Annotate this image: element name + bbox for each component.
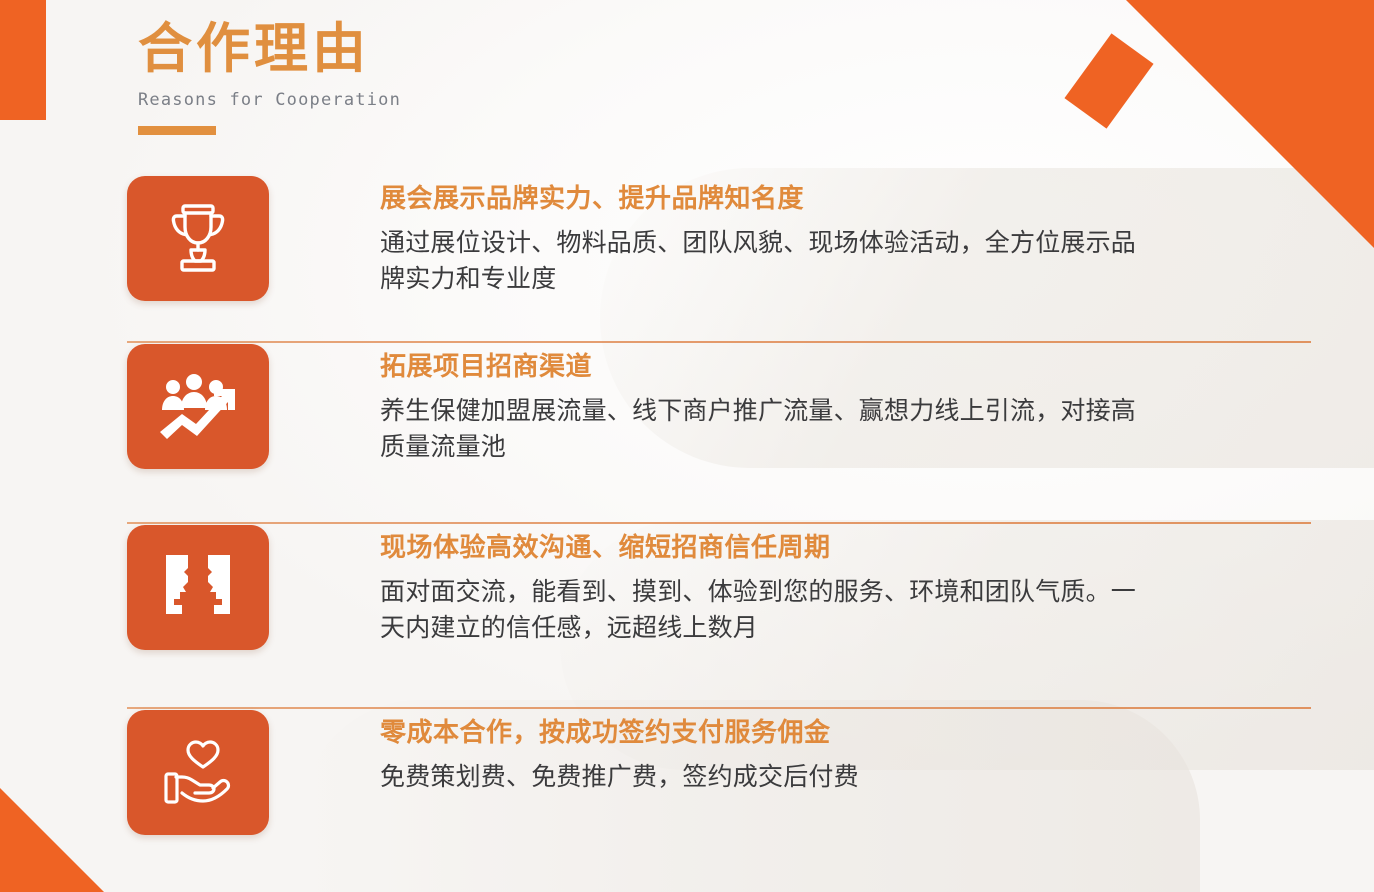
- list-item: 零成本合作，按成功签约支付服务佣金 免费策划费、免费推广费，签约成交后付费: [0, 710, 1374, 870]
- list-item-text: 现场体验高效沟通、缩短招商信任周期 面对面交流，能看到、摸到、体验到您的服务、环…: [380, 525, 1140, 646]
- hand-heart-icon: [158, 737, 238, 809]
- list-item-text: 展会展示品牌实力、提升品牌知名度 通过展位设计、物料品质、团队风貌、现场体验活动…: [380, 176, 1140, 297]
- page-title: 合作理由: [138, 18, 401, 80]
- list-item-description: 养生保健加盟展流量、线下商户推广流量、赢想力线上引流，对接高质量流量池: [380, 393, 1140, 466]
- list-item-text: 零成本合作，按成功签约支付服务佣金 免费策划费、免费推广费，签约成交后付费: [380, 710, 859, 795]
- two-faces-icon: [160, 551, 236, 625]
- list-item-text: 拓展项目招商渠道 养生保健加盟展流量、线下商户推广流量、赢想力线上引流，对接高质…: [380, 344, 1140, 465]
- hand-heart-icon-tile: [127, 710, 269, 835]
- list-item-title: 展会展示品牌实力、提升品牌知名度: [380, 182, 1140, 215]
- title-underline-bar: [138, 126, 216, 135]
- list-item-title: 零成本合作，按成功签约支付服务佣金: [380, 716, 859, 749]
- list-item: 拓展项目招商渠道 养生保健加盟展流量、线下商户推广流量、赢想力线上引流，对接高质…: [0, 344, 1374, 525]
- list-item: 展会展示品牌实力、提升品牌知名度 通过展位设计、物料品质、团队风貌、现场体验活动…: [0, 176, 1374, 344]
- row-divider: [127, 707, 1311, 709]
- row-divider: [127, 522, 1311, 524]
- top-left-orange-bar-decoration: [0, 0, 46, 120]
- list-item-title: 拓展项目招商渠道: [380, 350, 1140, 383]
- list-item-title: 现场体验高效沟通、缩短招商信任周期: [380, 531, 1140, 564]
- slide-root: 合作理由 Reasons for Cooperation: [0, 0, 1374, 892]
- list-item: 现场体验高效沟通、缩短招商信任周期 面对面交流，能看到、摸到、体验到您的服务、环…: [0, 525, 1374, 710]
- list-item-description: 通过展位设计、物料品质、团队风貌、现场体验活动，全方位展示品牌实力和专业度: [380, 225, 1140, 298]
- list-item-description: 面对面交流，能看到、摸到、体验到您的服务、环境和团队气质。一天内建立的信任感，远…: [380, 574, 1140, 647]
- reason-list: 展会展示品牌实力、提升品牌知名度 通过展位设计、物料品质、团队风貌、现场体验活动…: [0, 176, 1374, 870]
- growth-chart-people-icon-tile: [127, 344, 269, 469]
- row-divider: [127, 341, 1311, 343]
- two-faces-icon-tile: [127, 525, 269, 650]
- list-item-description: 免费策划费、免费推广费，签约成交后付费: [380, 759, 859, 795]
- growth-chart-people-icon: [156, 370, 240, 444]
- trophy-icon-tile: [127, 176, 269, 301]
- slide-header: 合作理由 Reasons for Cooperation: [138, 18, 401, 135]
- trophy-icon: [161, 200, 235, 278]
- page-subtitle: Reasons for Cooperation: [138, 90, 401, 110]
